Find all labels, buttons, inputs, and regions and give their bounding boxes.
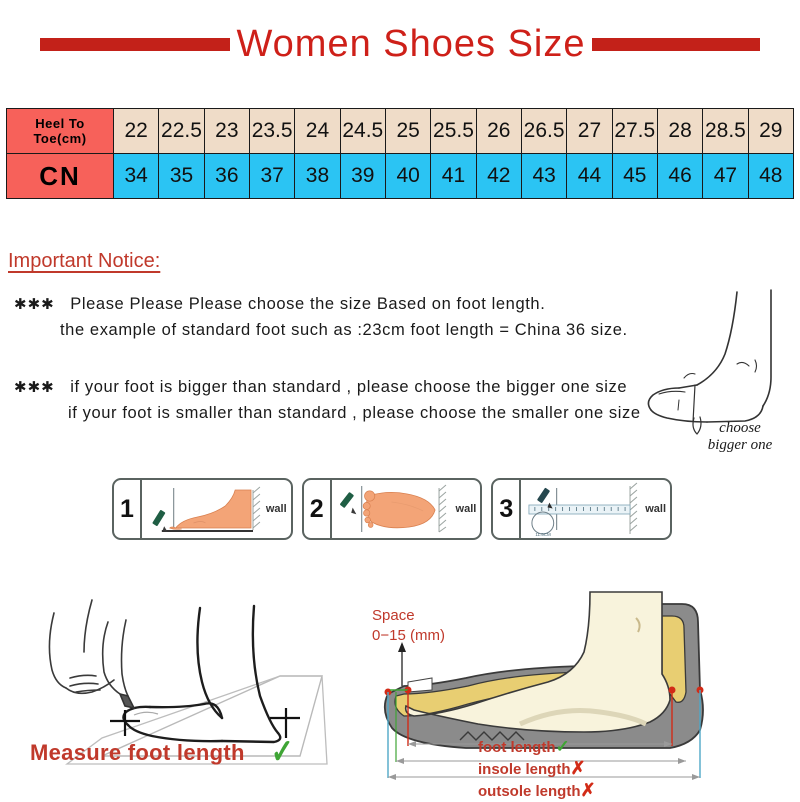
notice-text: Please Please Please choose the size Bas… [70,295,545,313]
check-mark-icon: ✓ [271,735,294,769]
cell-cm: 28 [657,109,702,154]
notice-line: if your foot is smaller than standard , … [14,401,641,427]
notice-block-1: ✱✱✱ Please Please Please choose the size… [14,292,628,343]
cross-mark-icon: ✗ [581,780,596,800]
ruler-reading: 11.5CM [535,532,550,537]
wall-label: wall [456,503,477,515]
cell-cm: 26 [476,109,521,154]
space-annotation: Space 0−15 (mm) [372,606,445,647]
length-label: foot length [478,739,555,756]
cell-cm: 28.5 [703,109,748,154]
check-mark-icon: ✓ [555,737,569,756]
size-conversion-table: Heel To Toe(cm) 22 22.5 23 23.5 24 24.5 … [6,108,794,199]
space-label-line-1: Space [372,607,415,624]
asterisk-marker: ✱✱✱ [14,379,55,396]
notice-line: ✱✱✱ if your foot is bigger than standard… [14,375,641,401]
step-box-2: 2 [302,478,483,540]
space-label-line-2: 0−15 (mm) [372,627,445,644]
step-number: 1 [114,480,142,538]
notice-line: ✱✱✱ Please Please Please choose the size… [14,292,628,318]
cell-cm: 22 [114,109,159,154]
cell-cn: 42 [476,154,521,199]
cell-cn: 37 [249,154,294,199]
cell-cn: 48 [748,154,793,199]
page-title-banner: Women Shoes Size [0,18,800,70]
asterisk-marker: ✱✱✱ [14,296,55,313]
caption-line-1: choose [719,420,761,436]
wall-label: wall [266,503,287,515]
cell-cm: 25 [385,109,430,154]
cell-cn: 40 [385,154,430,199]
cell-cn: 41 [431,154,476,199]
cell-cn: 43 [521,154,566,199]
cell-cm: 29 [748,109,793,154]
step-number: 3 [493,480,521,538]
length-label: insole length [478,761,571,778]
step-3-illustration: 11.5CM wall [521,480,670,538]
notice-text: if your foot is bigger than standard , p… [70,378,627,396]
cell-cn: 36 [204,154,249,199]
caption-line-2: bigger one [708,437,773,453]
length-row-insole: insole length✗ [478,758,596,780]
cell-cn: 39 [340,154,385,199]
step-2-illustration: wall [332,480,481,538]
measurement-steps: 1 [112,478,672,540]
step-box-3: 3 [491,478,672,540]
choose-bigger-one-caption: choose bigger one [690,420,790,455]
table-row-cn: CN 34 35 36 37 38 39 40 41 42 43 44 45 4… [7,154,794,199]
length-row-outsole: outsole length✗ [478,780,596,802]
cell-cn: 35 [159,154,204,199]
table-row-heel-to-toe: Heel To Toe(cm) 22 22.5 23 23.5 24 24.5 … [7,109,794,154]
wall-label: wall [645,503,666,515]
cell-cn: 46 [657,154,702,199]
cell-cm: 27 [567,109,612,154]
measure-foot-length-caption: Measure foot length [30,740,245,766]
page-title: Women Shoes Size [236,25,585,63]
cell-cm: 23.5 [249,109,294,154]
cell-cn: 34 [114,154,159,199]
length-label: outsole length [478,783,581,800]
cell-cm: 22.5 [159,109,204,154]
cell-cm: 24 [295,109,340,154]
notice-line: the example of standard foot such as :23… [14,318,628,344]
cell-cm: 27.5 [612,109,657,154]
cell-cm: 26.5 [521,109,566,154]
cell-cm: 25.5 [431,109,476,154]
cross-mark-icon: ✗ [571,758,586,778]
step-number: 2 [304,480,332,538]
cell-cn: 38 [295,154,340,199]
length-row-foot: foot length✓ [478,737,596,758]
step-box-1: 1 [112,478,293,540]
row-header-heel-to-toe: Heel To Toe(cm) [7,109,114,154]
row-header-cn: CN [7,154,114,199]
cell-cm: 24.5 [340,109,385,154]
important-notice-heading: Important Notice: [8,250,160,273]
cell-cn: 44 [567,154,612,199]
notice-block-2: ✱✱✱ if your foot is bigger than standard… [14,375,641,426]
cell-cm: 23 [204,109,249,154]
step-1-illustration: wall [142,480,291,538]
cell-cn: 47 [703,154,748,199]
title-bar-left [40,38,230,51]
length-measurement-labels: foot length✓ insole length✗ outsole leng… [478,737,596,802]
cell-cn: 45 [612,154,657,199]
title-bar-right [592,38,760,51]
